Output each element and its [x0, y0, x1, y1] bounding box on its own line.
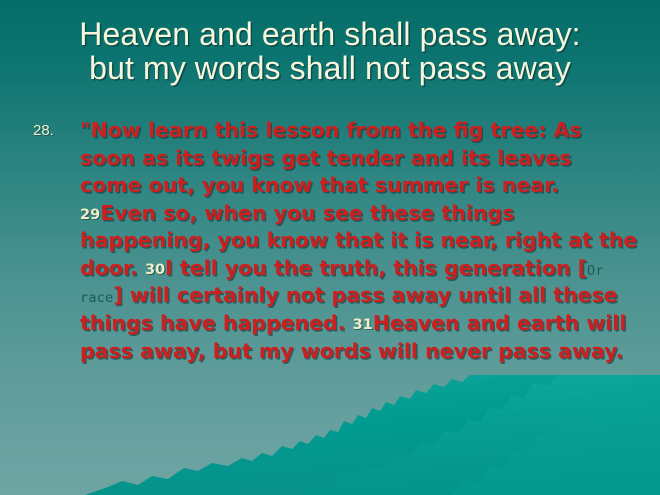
presentation-slide: Heaven and earth shall pass away: but my… — [0, 0, 660, 495]
bracket-open: [ — [578, 256, 587, 280]
bracket-close: ] — [113, 283, 122, 307]
mountain-silhouette-icon — [0, 375, 660, 495]
slide-body: 28."Now learn this lesson from the fig t… — [28, 117, 638, 365]
bullet-number: 28. — [33, 121, 54, 141]
verse-number-30: 30 — [145, 262, 165, 278]
verse-text-segment-3: I tell you the truth, this generation — [165, 256, 578, 280]
scripture-paragraph: 28."Now learn this lesson from the fig t… — [28, 117, 638, 365]
title-line-1: Heaven and earth shall pass away: — [0, 18, 660, 52]
verse-number-29: 29 — [80, 207, 100, 223]
slide-title: Heaven and earth shall pass away: but my… — [0, 18, 660, 86]
verse-number-31: 31 — [353, 317, 373, 333]
verse-text-segment-1: "Now learn this lesson from the fig tree… — [80, 118, 582, 197]
title-line-2: but my words shall not pass away — [0, 52, 660, 86]
